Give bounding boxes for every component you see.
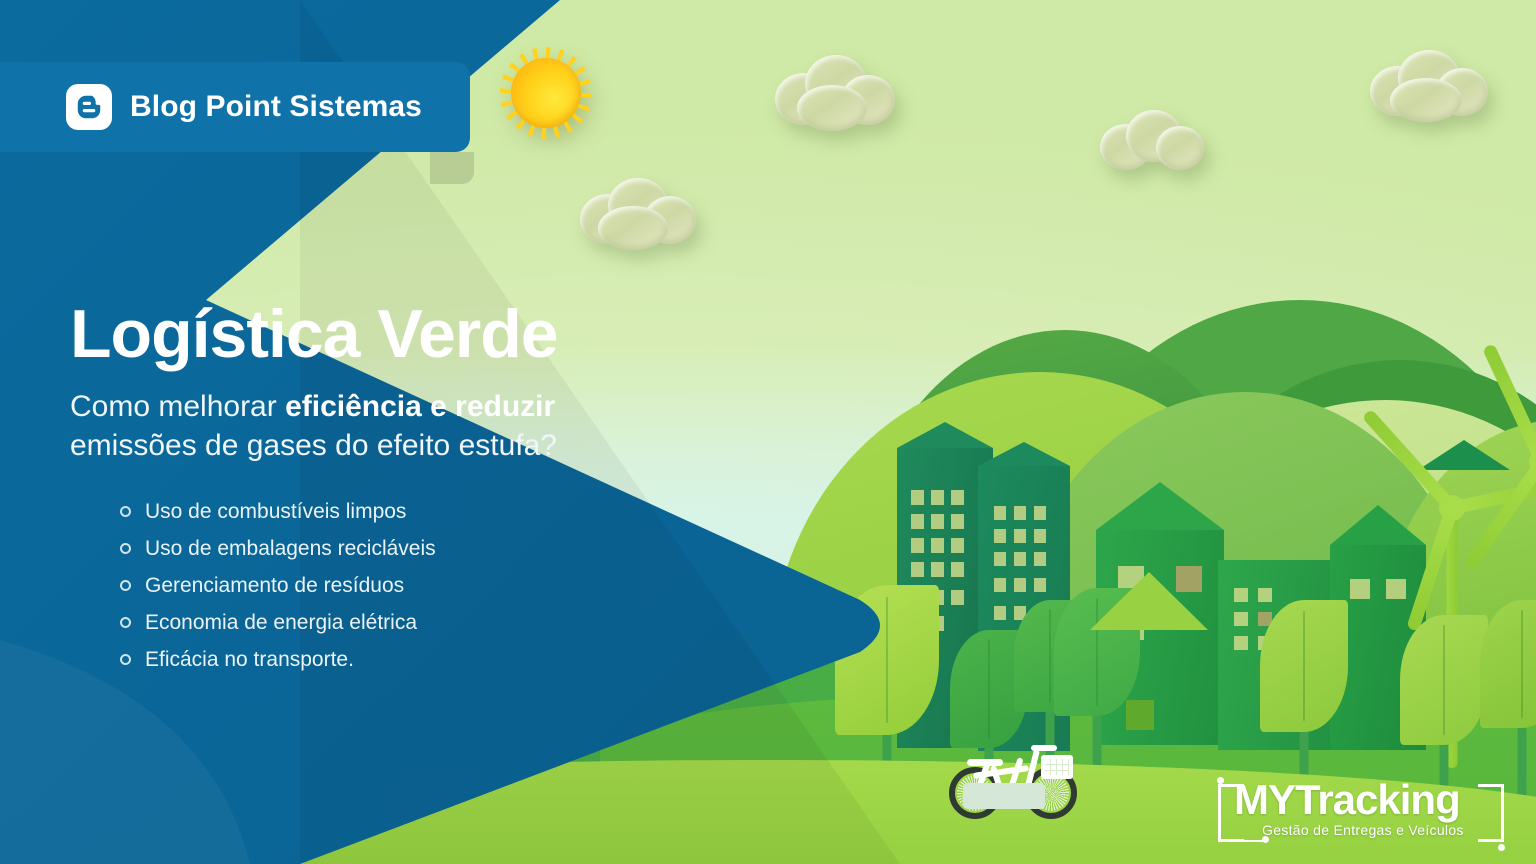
list-item-label: Economia de energia elétrica bbox=[145, 611, 417, 634]
subtitle-emphasis: eficiência e reduzir bbox=[285, 390, 555, 423]
bullet-list: Uso de combustíveis limpos Uso de embala… bbox=[120, 500, 436, 685]
bullet-circle-icon bbox=[120, 543, 131, 554]
list-item: Eficácia no transporte. bbox=[120, 648, 436, 671]
logo-word-my: MY bbox=[1234, 776, 1295, 823]
bullet-circle-icon bbox=[120, 654, 131, 665]
subtitle-part-2: emissões de gases do efeito estufa? bbox=[70, 429, 557, 462]
page-title: Logística Verde bbox=[70, 300, 730, 369]
bicycle-icon bbox=[945, 735, 1085, 825]
brand-name-label: Blog Point Sistemas bbox=[130, 90, 422, 124]
list-item: Economia de energia elétrica bbox=[120, 611, 436, 634]
brand-tab[interactable]: Blog Point Sistemas bbox=[0, 62, 470, 152]
bullet-circle-icon bbox=[120, 506, 131, 517]
logo-tagline: Gestão de Entregas e Veículos bbox=[1262, 822, 1464, 838]
list-item: Gerenciamento de resíduos bbox=[120, 574, 436, 597]
basket-shape bbox=[1041, 755, 1073, 779]
list-item-label: Gerenciamento de resíduos bbox=[145, 574, 404, 597]
list-item: Uso de embalagens recicláveis bbox=[120, 537, 436, 560]
logo-tab-shadow bbox=[430, 152, 474, 184]
bullet-circle-icon bbox=[120, 580, 131, 591]
blogger-icon[interactable] bbox=[66, 84, 112, 130]
list-item-label: Uso de combustíveis limpos bbox=[145, 500, 406, 523]
list-item-label: Eficácia no transporte. bbox=[145, 648, 354, 671]
banner-root: Blog Point Sistemas Logística Verde Como… bbox=[0, 0, 1536, 864]
door-shape bbox=[1126, 700, 1154, 730]
list-item: Uso de combustíveis limpos bbox=[120, 500, 436, 523]
logo-wordmark: MYTracking bbox=[1234, 776, 1460, 824]
bullet-circle-icon bbox=[120, 617, 131, 628]
hero-copy: Logística Verde Como melhorar eficiência… bbox=[70, 300, 730, 465]
cloud-icon bbox=[1100, 110, 1205, 178]
cloud-icon bbox=[1370, 50, 1490, 128]
subtitle-part-1: Como melhorar bbox=[70, 390, 285, 423]
logo-word-tracking: Tracking bbox=[1295, 776, 1460, 823]
mytracking-logo: MYTracking Gestão de Entregas e Veículos bbox=[1218, 778, 1504, 844]
bag-shape bbox=[963, 783, 1045, 809]
blue-panel: Blog Point Sistemas Logística Verde Como… bbox=[0, 0, 900, 864]
hero-subtitle: Como melhorar eficiência e reduzir emiss… bbox=[70, 387, 670, 465]
list-item-label: Uso de embalagens recicláveis bbox=[145, 537, 436, 560]
